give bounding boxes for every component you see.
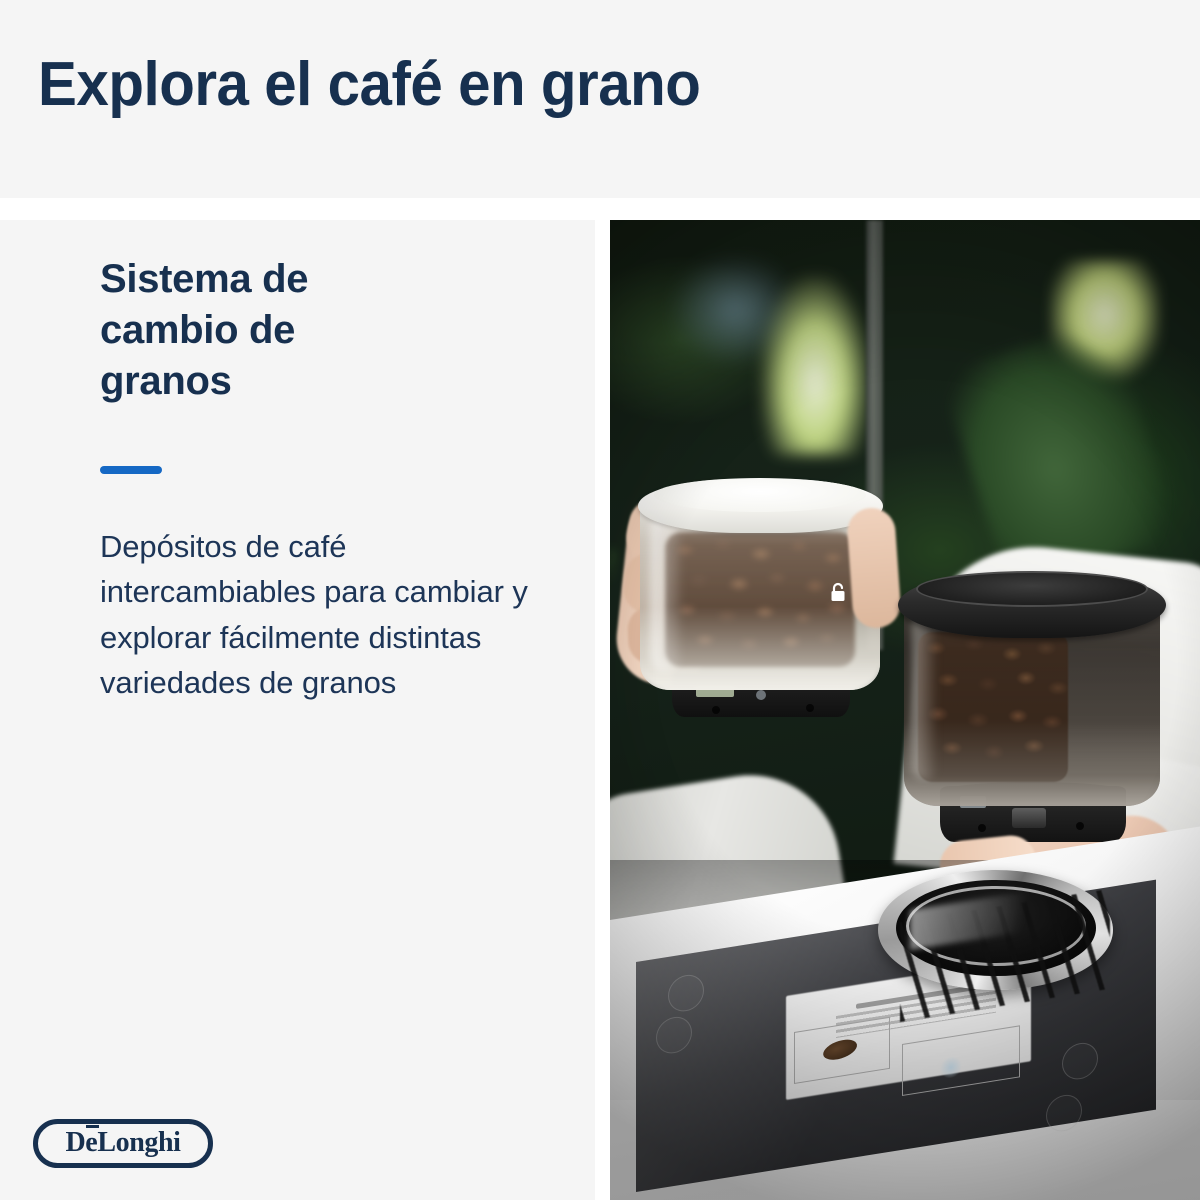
promo-card: Explora el café en grano Sistema de camb… bbox=[0, 0, 1200, 1200]
logo-letter-e: e bbox=[85, 1127, 97, 1158]
container-black-base-screw-1 bbox=[978, 824, 986, 832]
container-white-base-screw-1 bbox=[712, 706, 720, 714]
container-black-base-tab bbox=[1012, 808, 1046, 828]
feature-heading: Sistema de cambio de granos bbox=[100, 254, 520, 408]
left-hand-thumb bbox=[846, 506, 902, 629]
product-photo bbox=[610, 220, 1200, 1200]
logo-letters-longhi: Longhi bbox=[97, 1127, 180, 1158]
header-band: Explora el café en grano bbox=[0, 0, 1200, 198]
container-black-highlight bbox=[912, 612, 938, 780]
accent-divider bbox=[100, 466, 162, 474]
page-title: Explora el café en grano bbox=[38, 52, 700, 117]
container-black-base-screw-2 bbox=[1076, 822, 1084, 830]
feature-description: Depósitos de café intercambiables para c… bbox=[100, 524, 530, 705]
snowflake-icon bbox=[940, 1055, 962, 1080]
foliage-highlight-left bbox=[760, 275, 870, 455]
container-white-highlight bbox=[650, 512, 684, 672]
logo-wordmark: DeLonghi bbox=[65, 1129, 180, 1157]
delonghi-logo: DeLonghi bbox=[33, 1119, 213, 1168]
container-white-lid-top bbox=[654, 478, 866, 512]
container-white-base-sensor bbox=[756, 690, 766, 700]
lock-icon bbox=[828, 582, 848, 604]
container-black-lid-top bbox=[916, 571, 1148, 607]
logo-letter-d: D bbox=[65, 1127, 85, 1158]
container-white-base-screw-2 bbox=[806, 704, 814, 712]
